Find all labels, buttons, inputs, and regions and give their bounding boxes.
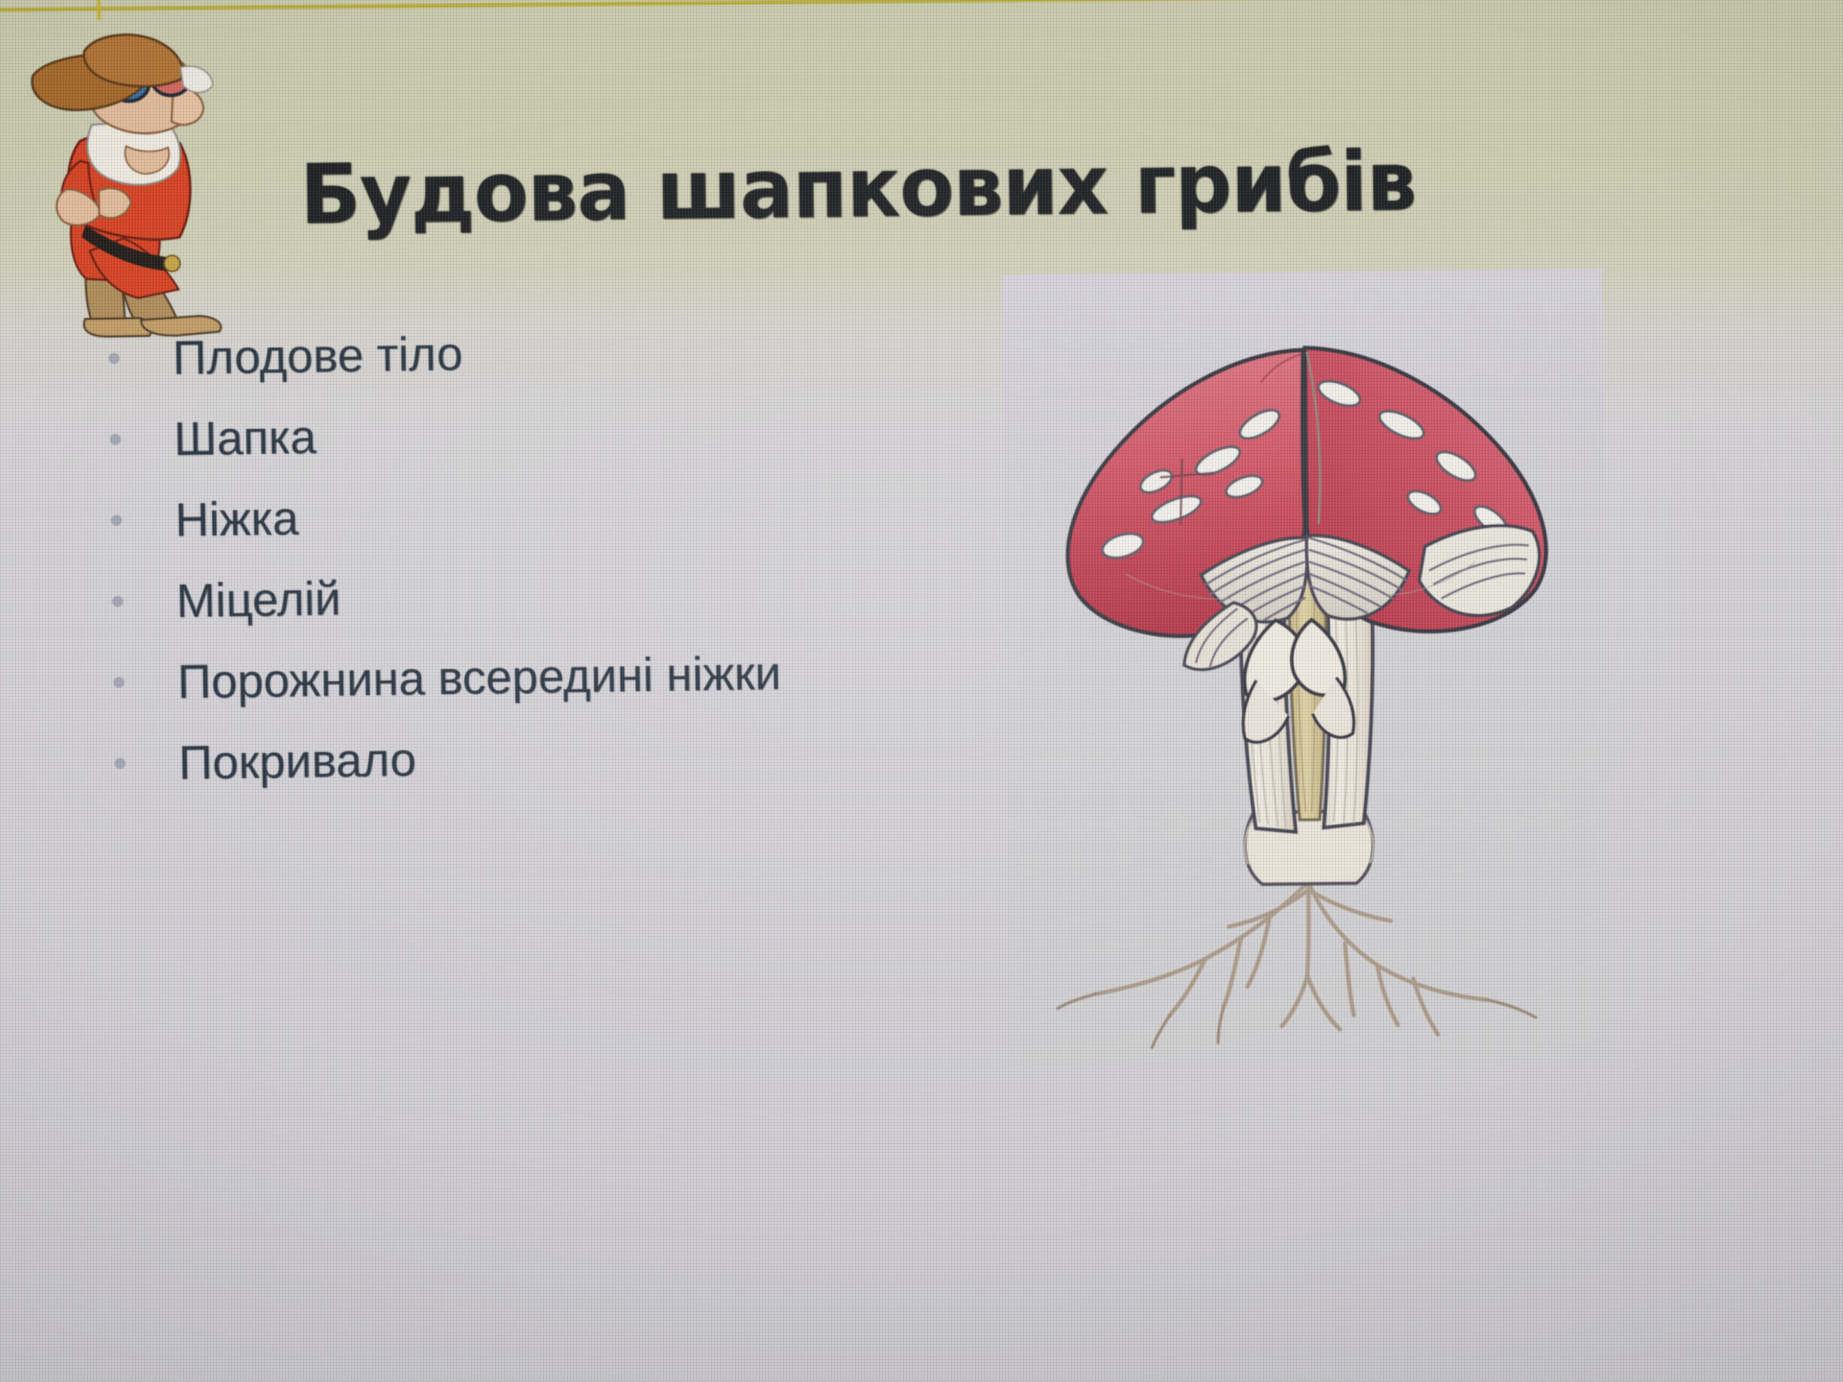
list-item-label: Ніжка xyxy=(175,490,299,547)
bullet-list: Плодове тіло Шапка Ніжка Міцелій Порожни… xyxy=(108,305,1015,804)
list-item: Плодове тіло xyxy=(108,305,1009,399)
bullet-dot-icon xyxy=(110,434,121,445)
slide-border-left xyxy=(96,0,101,20)
list-item-label: Міцелій xyxy=(176,571,341,628)
bullet-dot-icon xyxy=(112,596,123,607)
list-item: Покривало xyxy=(114,710,1015,804)
list-item-label: Порожнина всередині ніжки xyxy=(177,645,781,709)
bullet-dot-icon xyxy=(113,677,124,688)
list-item-label: Покривало xyxy=(178,731,416,790)
page-title: Будова шапкових грибів xyxy=(299,134,1416,243)
dwarf-clipart xyxy=(24,26,244,340)
list-item: Шапка xyxy=(109,386,1010,480)
slide-photo-screenshot: Будова шапкових грибів Плодове тіло Шапк… xyxy=(0,0,1843,1382)
bullet-dot-icon xyxy=(111,515,122,526)
bullet-dot-icon xyxy=(115,758,126,769)
list-item-label: Плодове тіло xyxy=(172,326,463,385)
mycelium-threads xyxy=(1094,880,1488,1038)
list-item: Порожнина всередині ніжки xyxy=(113,629,1014,723)
list-item: Міцелій xyxy=(112,548,1013,642)
list-item-label: Шапка xyxy=(173,409,316,466)
mushroom-figure xyxy=(1002,269,1610,1065)
bullet-dot-icon xyxy=(109,353,120,364)
list-item: Ніжка xyxy=(110,467,1011,561)
